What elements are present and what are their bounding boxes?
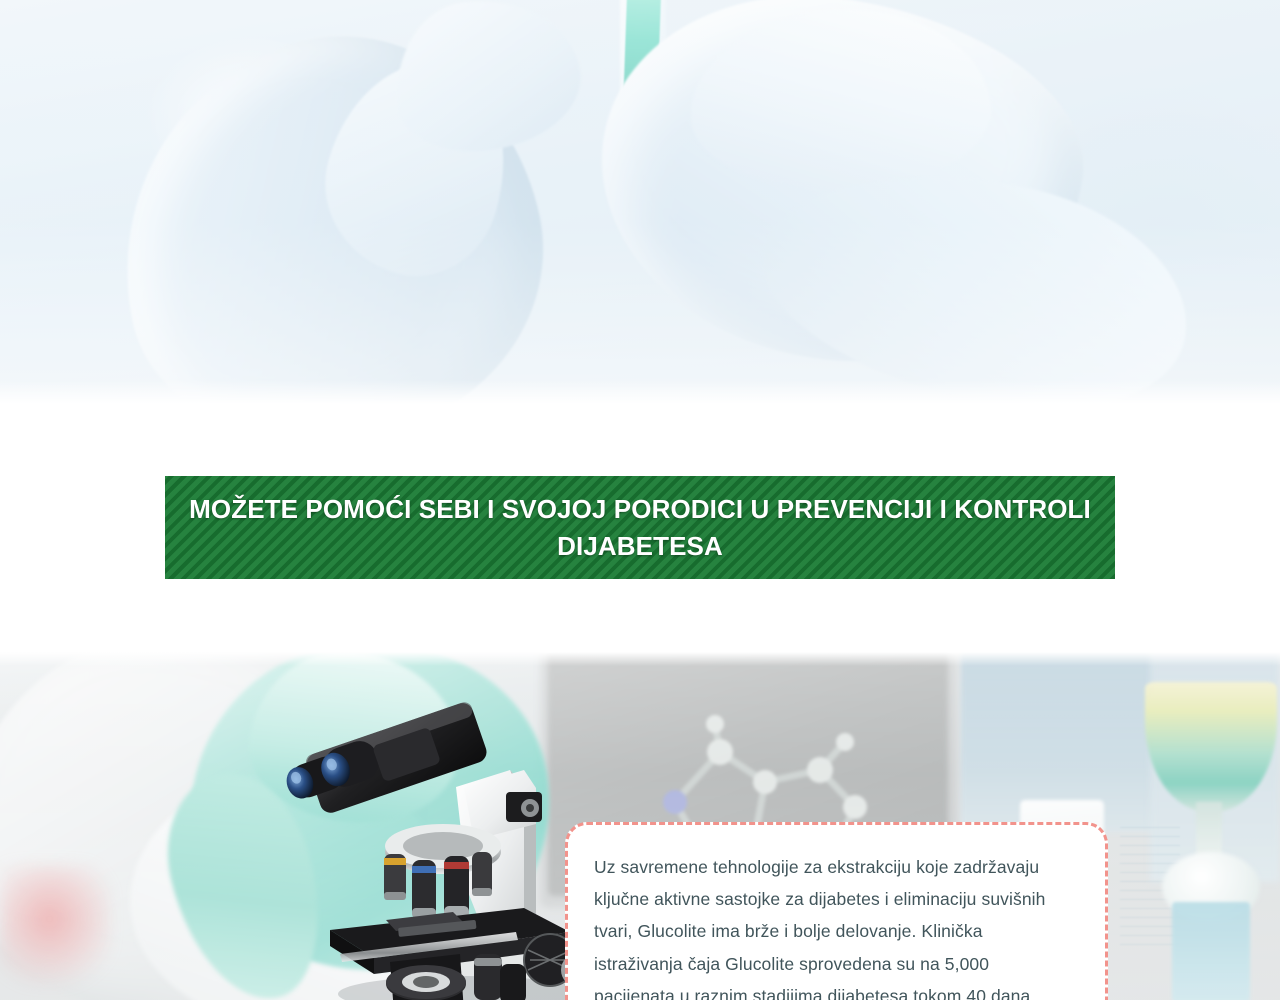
headline-banner: MOŽETE POMOĆI SEBI I SVOJOJ PORODICI U P… [165, 476, 1115, 579]
lab-top-fade [0, 652, 1280, 666]
info-text-card: Uz savremene tehnologije za ekstrakciju … [565, 822, 1108, 1000]
background-pink-blur [0, 865, 110, 985]
microscope-icon [278, 692, 608, 1000]
hero-white-overlay [0, 0, 1280, 406]
hero-photo-banner [0, 0, 1280, 406]
landing-page: MOŽETE POMOĆI SEBI I SVOJOJ PORODICI U P… [0, 0, 1280, 1000]
banner-headline-text: MOŽETE POMOĆI SEBI I SVOJOJ PORODICI U P… [189, 491, 1091, 565]
hero-bottom-fade [0, 380, 1280, 406]
info-card-paragraph: Uz savremene tehnologije za ekstrakciju … [594, 851, 1071, 1000]
